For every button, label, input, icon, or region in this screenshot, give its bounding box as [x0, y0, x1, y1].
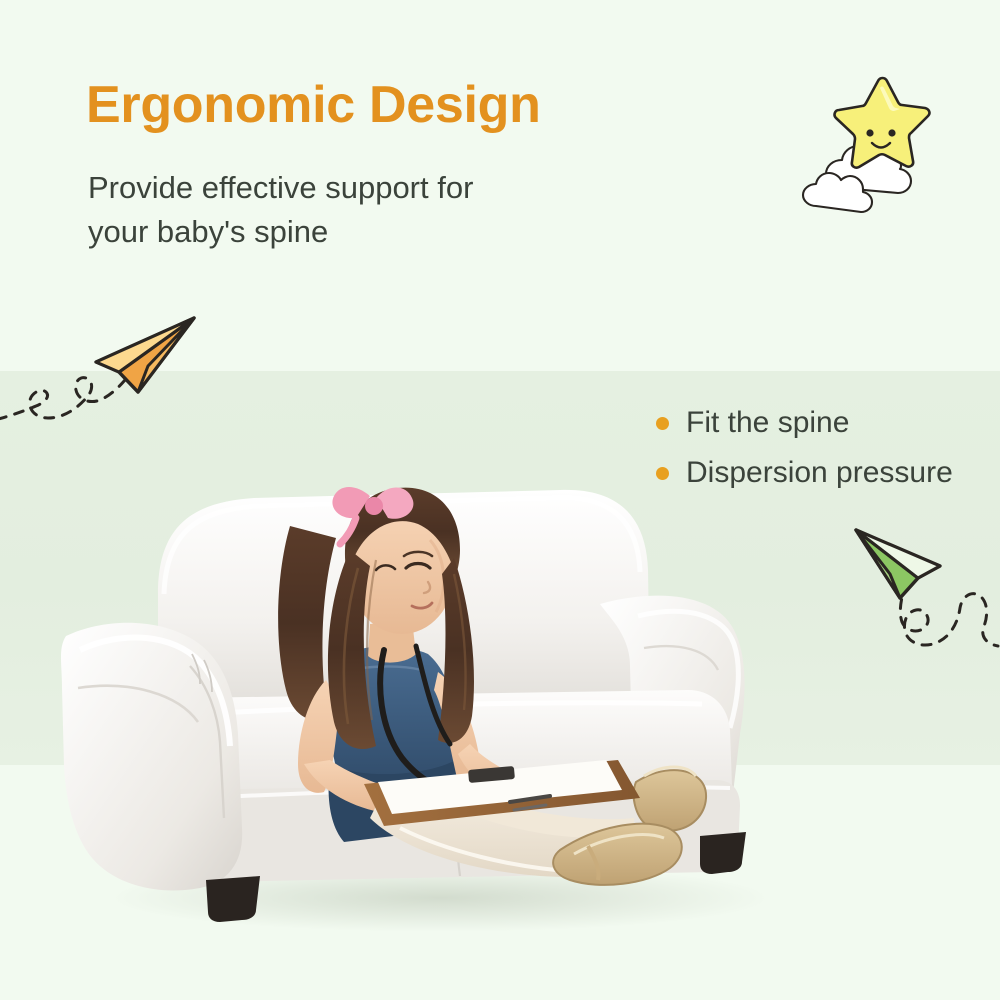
- sofa-leg-front-left: [206, 876, 260, 922]
- subtitle-line-1: Provide effective support for: [88, 166, 608, 210]
- product-photo-kids-sofa: [40, 398, 840, 938]
- banner-canvas: Ergonomic Design Provide effective suppo…: [0, 0, 1000, 1000]
- sofa-armrest-left: [61, 623, 242, 891]
- child-shoe-upper: [634, 770, 706, 831]
- page-title: Ergonomic Design: [86, 78, 541, 133]
- star-cloud-icon: [800, 70, 970, 215]
- sofa-leg-right: [700, 832, 746, 874]
- subtitle-line-2: your baby's spine: [88, 210, 608, 254]
- paper-airplane-green-icon: [848, 516, 1000, 651]
- page-subtitle: Provide effective support for your baby'…: [88, 166, 608, 254]
